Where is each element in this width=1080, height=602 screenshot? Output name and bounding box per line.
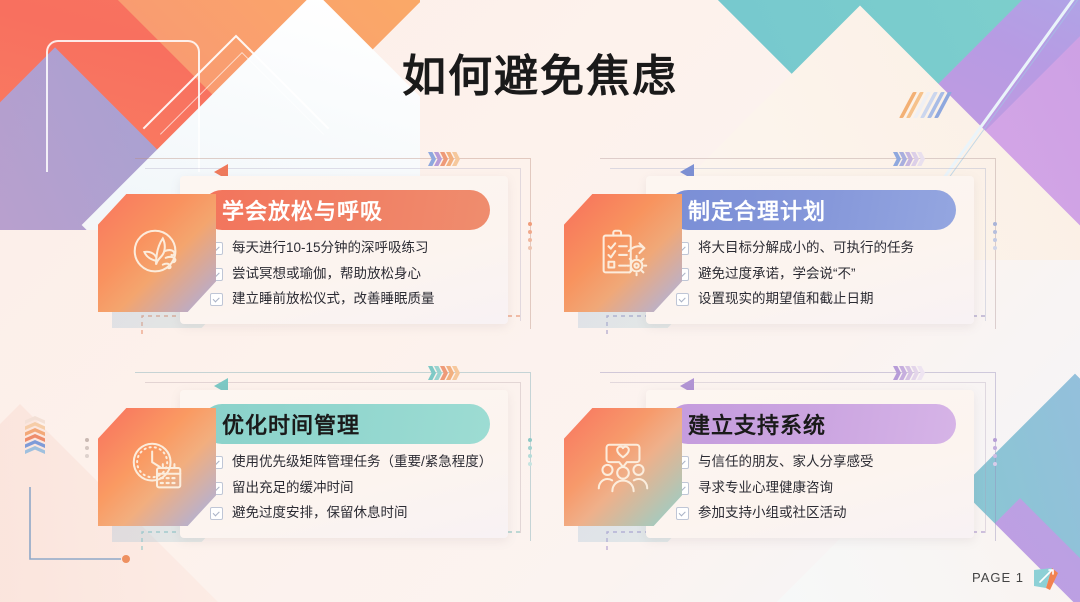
card-title: 优化时间管理 bbox=[222, 408, 360, 440]
card-icon-tile bbox=[98, 194, 216, 312]
card-bullet-list: 使用优先级矩阵管理任务（重要/紧急程度） 留出充足的缓冲时间 避免过度安排，保留… bbox=[210, 452, 502, 529]
list-item: 使用优先级矩阵管理任务（重要/紧急程度） bbox=[210, 452, 502, 472]
card-title: 学会放松与呼吸 bbox=[222, 194, 383, 226]
card-icon-tile bbox=[564, 408, 682, 526]
bullet-text: 留出充足的缓冲时间 bbox=[232, 478, 354, 498]
card-header: 优化时间管理 bbox=[202, 404, 490, 444]
checkbox-icon bbox=[676, 507, 689, 520]
bullet-text: 使用优先级矩阵管理任务（重要/紧急程度） bbox=[232, 452, 492, 472]
slide-canvas: 如何避免焦虑 学会放松与呼吸 每天进行10-15分钟的深呼吸练习 尝试冥想或瑜伽… bbox=[0, 0, 1080, 602]
dot-column-card3 bbox=[528, 438, 532, 466]
chevron-right-pack-top-left bbox=[430, 152, 460, 166]
card-header: 学会放松与呼吸 bbox=[202, 190, 490, 230]
bullet-text: 建立睡前放松仪式，改善睡眠质量 bbox=[232, 289, 435, 309]
list-item: 建立睡前放松仪式，改善睡眠质量 bbox=[210, 289, 502, 309]
list-item: 参加支持小组或社区活动 bbox=[676, 503, 968, 523]
card-icon-tile bbox=[564, 194, 682, 312]
card-time-management[interactable]: 优化时间管理 使用优先级矩阵管理任务（重要/紧急程度） 留出充足的缓冲时间 避免… bbox=[98, 390, 508, 540]
card-bullet-list: 与信任的朋友、家人分享感受 寻求专业心理健康咨询 参加支持小组或社区活动 bbox=[676, 452, 968, 529]
list-item: 每天进行10-15分钟的深呼吸练习 bbox=[210, 238, 502, 258]
card-icon-tile bbox=[98, 408, 216, 526]
list-item: 留出充足的缓冲时间 bbox=[210, 478, 502, 498]
card-header: 建立支持系统 bbox=[668, 404, 956, 444]
card-body: 优化时间管理 使用优先级矩阵管理任务（重要/紧急程度） 留出充足的缓冲时间 避免… bbox=[180, 390, 508, 538]
people-heart-icon bbox=[592, 436, 654, 498]
list-item: 寻求专业心理健康咨询 bbox=[676, 478, 968, 498]
checkbox-icon bbox=[676, 293, 689, 306]
card-header: 制定合理计划 bbox=[668, 190, 956, 230]
page-title: 如何避免焦虑 bbox=[0, 40, 1080, 104]
list-item: 将大目标分解成小的、可执行的任务 bbox=[676, 238, 968, 258]
list-item: 尝试冥想或瑜伽，帮助放松身心 bbox=[210, 264, 502, 284]
card-body: 制定合理计划 将大目标分解成小的、可执行的任务 避免过度承诺，学会说“不” 设置… bbox=[646, 176, 974, 324]
chevron-right-pack-mid-right bbox=[895, 366, 925, 380]
list-item: 避免过度承诺，学会说“不” bbox=[676, 264, 968, 284]
bullet-text: 寻求专业心理健康咨询 bbox=[698, 478, 833, 498]
chevron-right-pack-mid-left bbox=[430, 366, 460, 380]
page-number-label: PAGE 1 bbox=[972, 570, 1024, 585]
checkbox-icon bbox=[210, 507, 223, 520]
bullet-text: 将大目标分解成小的、可执行的任务 bbox=[698, 238, 914, 258]
card-title: 制定合理计划 bbox=[688, 194, 826, 226]
leaf-breath-icon bbox=[126, 222, 188, 284]
footer: PAGE 1 bbox=[972, 564, 1058, 590]
bullet-text: 避免过度承诺，学会说“不” bbox=[698, 264, 856, 284]
dot-column-card2 bbox=[993, 222, 997, 250]
rocket-logo-icon bbox=[1032, 564, 1058, 590]
card-support-system[interactable]: 建立支持系统 与信任的朋友、家人分享感受 寻求专业心理健康咨询 参加支持小组或社… bbox=[564, 390, 974, 540]
bullet-text: 每天进行10-15分钟的深呼吸练习 bbox=[232, 238, 429, 258]
clipboard-gear-icon bbox=[592, 222, 654, 284]
card-bullet-list: 每天进行10-15分钟的深呼吸练习 尝试冥想或瑜伽，帮助放松身心 建立睡前放松仪… bbox=[210, 238, 502, 315]
card-relaxation[interactable]: 学会放松与呼吸 每天进行10-15分钟的深呼吸练习 尝试冥想或瑜伽，帮助放松身心… bbox=[98, 176, 508, 326]
dot-column-card4 bbox=[993, 438, 997, 466]
checkbox-icon bbox=[210, 293, 223, 306]
bullet-text: 避免过度安排，保留休息时间 bbox=[232, 503, 408, 523]
list-item: 避免过度安排，保留休息时间 bbox=[210, 503, 502, 523]
card-body: 学会放松与呼吸 每天进行10-15分钟的深呼吸练习 尝试冥想或瑜伽，帮助放松身心… bbox=[180, 176, 508, 324]
bullet-text: 设置现实的期望值和截止日期 bbox=[698, 289, 874, 309]
bullet-text: 与信任的朋友、家人分享感受 bbox=[698, 452, 874, 472]
bullet-text: 尝试冥想或瑜伽，帮助放松身心 bbox=[232, 264, 421, 284]
dot-column-card1 bbox=[528, 222, 532, 250]
clock-calendar-icon bbox=[126, 436, 188, 498]
card-bullet-list: 将大目标分解成小的、可执行的任务 避免过度承诺，学会说“不” 设置现实的期望值和… bbox=[676, 238, 968, 315]
card-body: 建立支持系统 与信任的朋友、家人分享感受 寻求专业心理健康咨询 参加支持小组或社… bbox=[646, 390, 974, 538]
dot-column-left bbox=[85, 438, 89, 458]
list-item: 设置现实的期望值和截止日期 bbox=[676, 289, 968, 309]
bullet-text: 参加支持小组或社区活动 bbox=[698, 503, 847, 523]
chevron-up-pack-bottom-left bbox=[25, 418, 45, 454]
chevron-right-pack-top-right bbox=[895, 152, 925, 166]
card-planning[interactable]: 制定合理计划 将大目标分解成小的、可执行的任务 避免过度承诺，学会说“不” 设置… bbox=[564, 176, 974, 326]
card-title: 建立支持系统 bbox=[688, 408, 826, 440]
list-item: 与信任的朋友、家人分享感受 bbox=[676, 452, 968, 472]
